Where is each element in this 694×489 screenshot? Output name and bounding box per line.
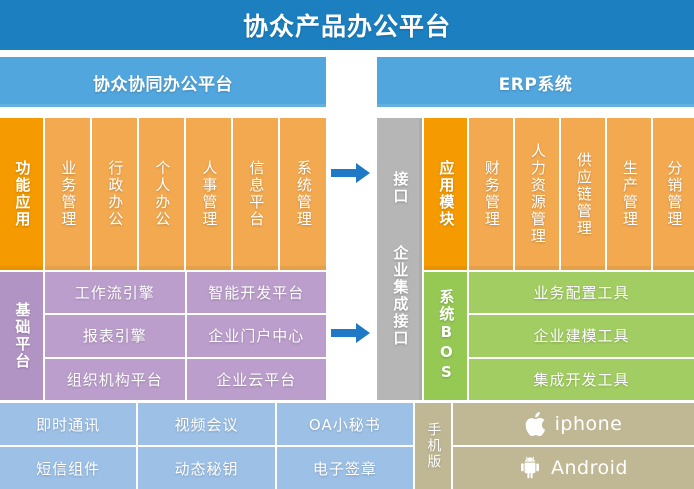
component-row: 即时通讯 视频会议 OA小秘书 短信组件 动态秘钥 电子签章 xyxy=(0,403,413,489)
system-bos-line: 业务配置工具 xyxy=(469,272,694,313)
module-personal-office[interactable]: 个人办公 xyxy=(139,118,184,270)
application-module-lead: 应用模块 xyxy=(424,118,467,270)
component-line: 即时通讯 视频会议 OA小秘书 xyxy=(0,403,413,445)
component-electronic-signature[interactable]: 电子签章 xyxy=(277,447,413,489)
system-bos-row: 系统BOS 业务配置工具 企业建模工具 集成开发工具 xyxy=(424,272,694,400)
flow-arrow-top-icon xyxy=(331,162,371,184)
system-bos-lead: 系统BOS xyxy=(424,272,467,400)
basic-platform-row: 基础平台 工作流引擎 智能开发平台 报表引擎 企业门户中心 组织机构平台 企业云… xyxy=(0,272,326,400)
module-business-management[interactable]: 业务管理 xyxy=(45,118,90,270)
basic-platform-grid: 工作流引擎 智能开发平台 报表引擎 企业门户中心 组织机构平台 企业云平台 xyxy=(45,272,326,400)
basic-platform-line: 组织机构平台 企业云平台 xyxy=(45,359,326,400)
platform-smart-dev-platform[interactable]: 智能开发平台 xyxy=(187,272,327,313)
page-title-bar: 协众产品办公平台 xyxy=(0,0,694,50)
section-header-erp: ERP系统 xyxy=(377,57,694,107)
integration-interface-column: 接口 企业集成接口 xyxy=(377,118,422,400)
module-supply-chain-management[interactable]: 供应链管理 xyxy=(561,118,605,270)
bos-business-config-tool[interactable]: 业务配置工具 xyxy=(469,272,694,313)
platform-org-structure-platform[interactable]: 组织机构平台 xyxy=(45,359,185,400)
function-application-lead: 功能应用 xyxy=(0,118,43,270)
basic-platform-lead: 基础平台 xyxy=(0,272,43,400)
module-human-resource-management[interactable]: 人力资源管理 xyxy=(515,118,559,270)
system-bos-line: 集成开发工具 xyxy=(469,359,694,400)
section-header-collaboration: 协众协同办公平台 xyxy=(0,57,326,107)
component-video-conference[interactable]: 视频会议 xyxy=(138,403,274,445)
platform-enterprise-cloud-platform[interactable]: 企业云平台 xyxy=(187,359,327,400)
mobile-version-lead: 手机版 xyxy=(415,403,451,489)
diagram-canvas: 协众产品办公平台 协众协同办公平台 ERP系统 功能应用 业务管理 行政办公 个… xyxy=(0,0,694,489)
component-instant-messaging[interactable]: 即时通讯 xyxy=(0,403,136,445)
module-system-management[interactable]: 系统管理 xyxy=(280,118,326,270)
module-distribution-management[interactable]: 分销管理 xyxy=(653,118,694,270)
platform-workflow-engine[interactable]: 工作流引擎 xyxy=(45,272,185,313)
platform-enterprise-portal-center[interactable]: 企业门户中心 xyxy=(187,315,327,356)
component-line: 短信组件 动态秘钥 电子签章 xyxy=(0,447,413,489)
function-application-row: 功能应用 业务管理 行政办公 个人办公 人事管理 信息平台 系统管理 xyxy=(0,118,326,270)
mobile-row: 手机版 iphone xyxy=(415,403,694,489)
enterprise-integration-interface-label: 企业集成接口 xyxy=(392,245,408,347)
mobile-platform-grid: iphone Android xyxy=(453,403,694,489)
module-finance-management[interactable]: 财务管理 xyxy=(469,118,513,270)
application-module-row: 应用模块 财务管理 人力资源管理 供应链管理 生产管理 分销管理 xyxy=(424,118,694,270)
mobile-platform-iphone-label: iphone xyxy=(555,413,623,435)
interface-label: 接口 xyxy=(392,171,408,205)
section-header-collaboration-label: 协众协同办公平台 xyxy=(93,70,233,95)
bos-enterprise-modeling-tool[interactable]: 企业建模工具 xyxy=(469,315,694,356)
basic-platform-line: 工作流引擎 智能开发平台 xyxy=(45,272,326,313)
section-header-erp-label: ERP系统 xyxy=(499,70,573,95)
mobile-platform-android[interactable]: Android xyxy=(453,447,694,489)
system-bos-line: 企业建模工具 xyxy=(469,315,694,356)
basic-platform-line: 报表引擎 企业门户中心 xyxy=(45,315,326,356)
mobile-platform-iphone[interactable]: iphone xyxy=(453,403,694,445)
component-oa-assistant[interactable]: OA小秘书 xyxy=(277,403,413,445)
mobile-platform-android-label: Android xyxy=(551,457,628,479)
component-sms-module[interactable]: 短信组件 xyxy=(0,447,136,489)
module-production-management[interactable]: 生产管理 xyxy=(607,118,651,270)
flow-arrow-bottom-icon xyxy=(331,322,371,344)
module-hr-management[interactable]: 人事管理 xyxy=(186,118,231,270)
apple-icon xyxy=(525,412,545,436)
module-information-platform[interactable]: 信息平台 xyxy=(233,118,278,270)
system-bos-grid: 业务配置工具 企业建模工具 集成开发工具 xyxy=(469,272,694,400)
page-title: 协众产品办公平台 xyxy=(243,7,451,43)
module-administrative-office[interactable]: 行政办公 xyxy=(92,118,137,270)
platform-report-engine[interactable]: 报表引擎 xyxy=(45,315,185,356)
component-dynamic-key[interactable]: 动态秘钥 xyxy=(138,447,274,489)
android-icon xyxy=(519,456,541,480)
bos-integrated-dev-tool[interactable]: 集成开发工具 xyxy=(469,359,694,400)
